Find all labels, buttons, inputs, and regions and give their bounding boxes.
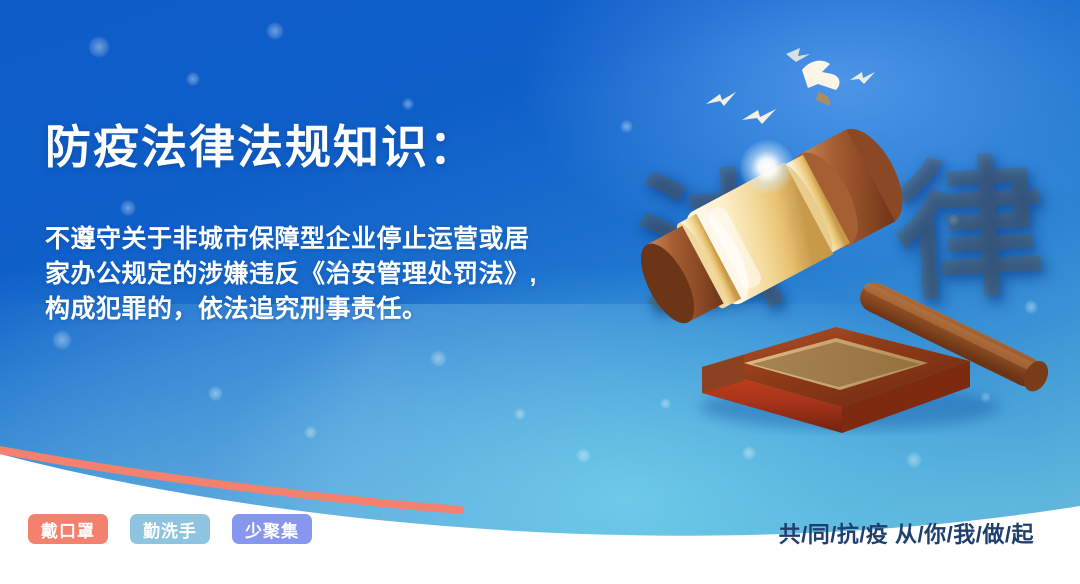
body-line-1: 不遵守关于非城市保障型企业停止运营或居 (45, 222, 565, 257)
prevention-tag-list: 戴口罩 勤洗手 少聚集 (28, 514, 312, 544)
poster-banner: 法 律 (0, 0, 1080, 584)
page-title: 防疫法律法规知识： (45, 123, 477, 173)
gavel-illustration (640, 115, 1060, 435)
body-copy: 不遵守关于非城市保障型企业停止运营或居 家办公规定的涉嫌违反《治安管理处罚法》,… (45, 222, 565, 327)
tag-avoid-crowds[interactable]: 少聚集 (232, 514, 312, 544)
tag-wear-mask[interactable]: 戴口罩 (28, 514, 108, 544)
white-curve-divider (0, 414, 1080, 584)
body-line-3: 构成犯罪的，依法追究刑事责任。 (45, 292, 565, 327)
slogan-text: 共/同/抗/疫 从/你/我/做/起 (779, 517, 1034, 549)
tag-wash-hands[interactable]: 勤洗手 (130, 514, 210, 544)
body-line-2: 家办公规定的涉嫌违反《治安管理处罚法》, (45, 257, 565, 292)
